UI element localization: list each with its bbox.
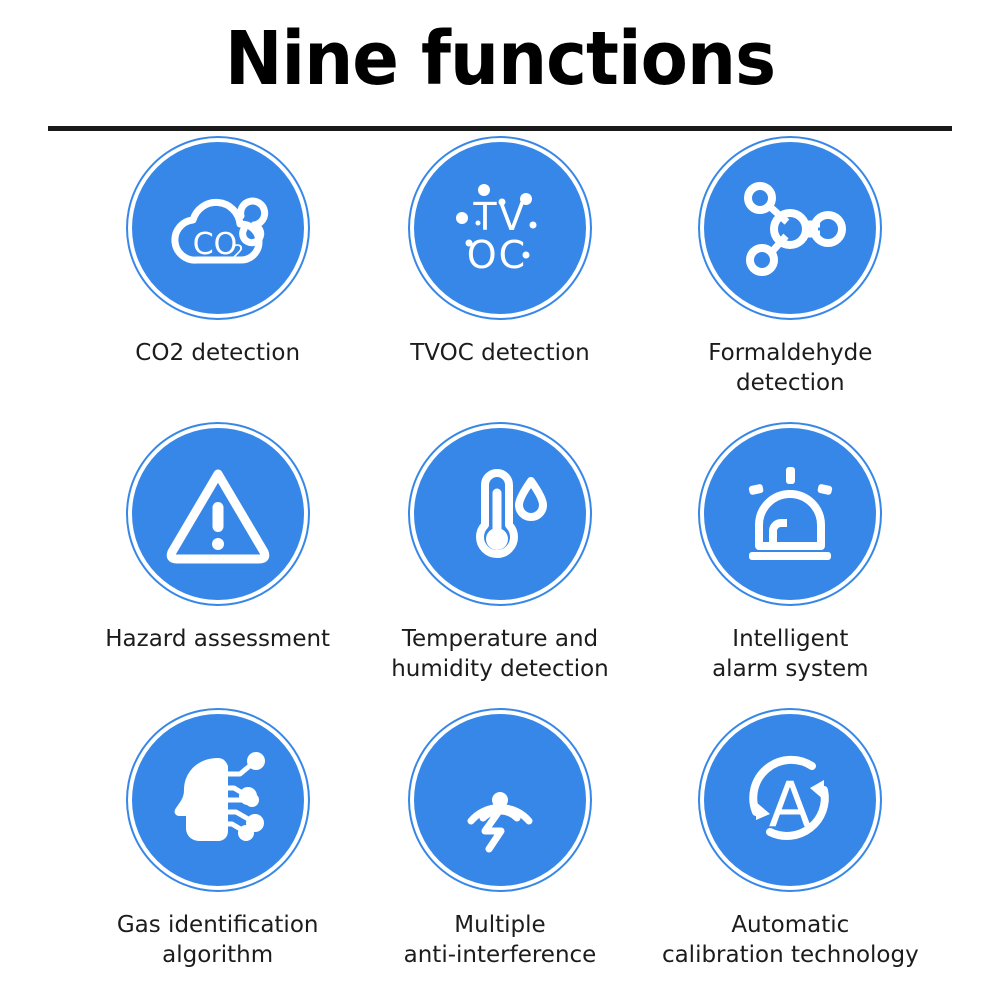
alarm-siren-icon (704, 428, 876, 600)
svg-text:CO: CO (192, 227, 237, 262)
feature-caption: CO2 detection (135, 338, 300, 368)
warning-triangle-icon (132, 428, 304, 600)
feature-card-formaldehyde-detection[interactable]: Formaldehyde detection (624, 142, 957, 428)
feature-caption: Formaldehyde detection (708, 338, 872, 398)
svg-text:A: A (769, 768, 811, 841)
svg-text:OC: OC (467, 233, 527, 277)
feature-card-multiple-anti-interference[interactable]: Multiple anti-interference (333, 714, 666, 1000)
title-divider (48, 126, 952, 131)
tvoc-text-icon: TV OC (414, 142, 586, 314)
feature-caption: Multiple anti-interference (404, 910, 597, 970)
co2-cloud-icon: CO 2 (132, 142, 304, 314)
feature-grid: CO 2 CO2 detection (0, 142, 1000, 1000)
feature-caption: Temperature and humidity detection (391, 624, 609, 684)
molecule-icon (704, 142, 876, 314)
feature-caption: Automatic calibration technology (662, 910, 919, 970)
ai-head-circuit-icon (132, 714, 304, 886)
feature-caption: Gas identification algorithm (117, 910, 319, 970)
feature-caption: Intelligent alarm system (712, 624, 869, 684)
page-title: Nine functions (35, 16, 965, 102)
nine-functions-infographic: Nine functions CO 2 CO2 detection (0, 0, 1000, 1000)
feature-caption: Hazard assessment (105, 624, 330, 654)
auto-calibration-a-icon: A (704, 714, 876, 886)
svg-text:2: 2 (232, 241, 244, 263)
feature-card-intelligent-alarm-system[interactable]: Intelligent alarm system (624, 428, 957, 714)
feature-caption: TVOC detection (410, 338, 589, 368)
feature-card-temperature-humidity-detection[interactable]: Temperature and humidity detection (333, 428, 666, 714)
feature-card-automatic-calibration-technology[interactable]: A Automatic calibration technology (624, 714, 957, 1000)
feature-card-tvoc-detection[interactable]: TV OC TVOC detection (333, 142, 666, 428)
thermometer-humidity-icon (414, 428, 586, 600)
signal-waves-bolt-icon (414, 714, 586, 886)
